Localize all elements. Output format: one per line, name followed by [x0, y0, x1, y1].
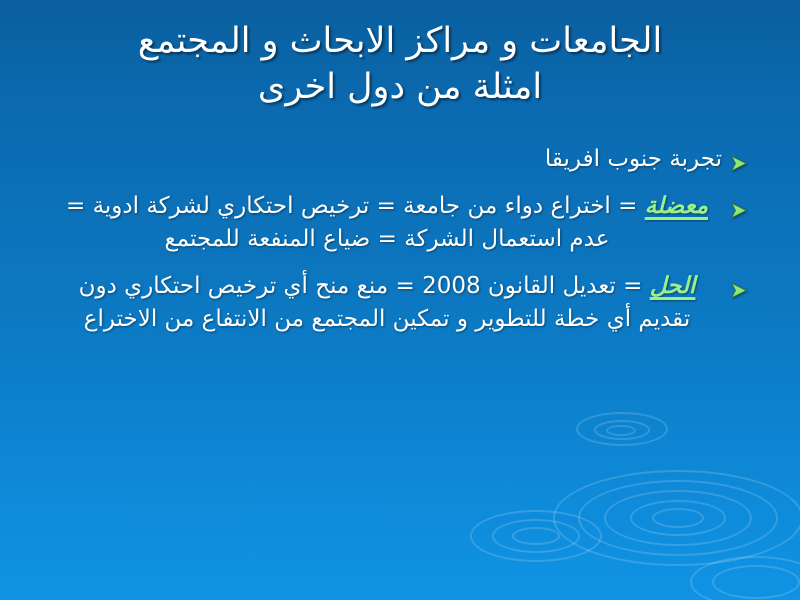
presentation-slide: الجامعات و مراكز الابحاث و المجتمع امثلة…	[0, 0, 800, 600]
bullet-text: تجربة جنوب افريقا	[52, 143, 722, 176]
law-year: 2008	[422, 273, 481, 299]
ripple-ring	[578, 480, 778, 556]
ripple-ring	[553, 470, 800, 566]
ripple-ring	[492, 519, 580, 553]
bullet-text: الحل = تعديل القانون 2008 = منع منح أي ت…	[52, 270, 722, 336]
bullet-body-text: = اختراع دواء من جامعة = ترخيص احتكاري ل…	[66, 193, 645, 252]
green-arrow-bullet-icon	[729, 277, 748, 296]
keyword-problem: معضلة	[645, 193, 708, 219]
ripple-ring	[594, 420, 650, 440]
ripple-ring	[630, 500, 726, 536]
bullet-item-problem: معضلة = اختراع دواء من جامعة = ترخيص احت…	[52, 190, 748, 256]
bullet-text-before-year: = تعديل القانون	[481, 273, 650, 299]
ripple-ring	[576, 412, 668, 446]
ripple-ring	[604, 490, 752, 546]
ripple-ring	[606, 425, 636, 436]
bullet-item-solution: الحل = تعديل القانون 2008 = منع منح أي ت…	[52, 270, 748, 336]
bullet-text: معضلة = اختراع دواء من جامعة = ترخيص احت…	[52, 190, 722, 256]
green-arrow-bullet-icon	[729, 197, 748, 216]
ripple-ring	[470, 510, 602, 562]
green-arrow-bullet-icon	[729, 150, 748, 169]
title-line-2: امثلة من دول اخرى	[60, 64, 740, 110]
title-line-1: الجامعات و مراكز الابحاث و المجتمع	[60, 18, 740, 64]
slide-body: تجربة جنوب افريقا معضلة = اختراع دواء من…	[52, 143, 748, 336]
ripple-ring	[512, 527, 560, 545]
slide-title: الجامعات و مراكز الابحاث و المجتمع امثلة…	[60, 18, 740, 110]
ripple-ring	[712, 565, 800, 599]
ripple-ring	[690, 556, 800, 600]
ripple-ring	[652, 508, 704, 528]
bullet-item-south-africa: تجربة جنوب افريقا	[52, 143, 748, 176]
keyword-solution: الحل	[650, 273, 696, 299]
